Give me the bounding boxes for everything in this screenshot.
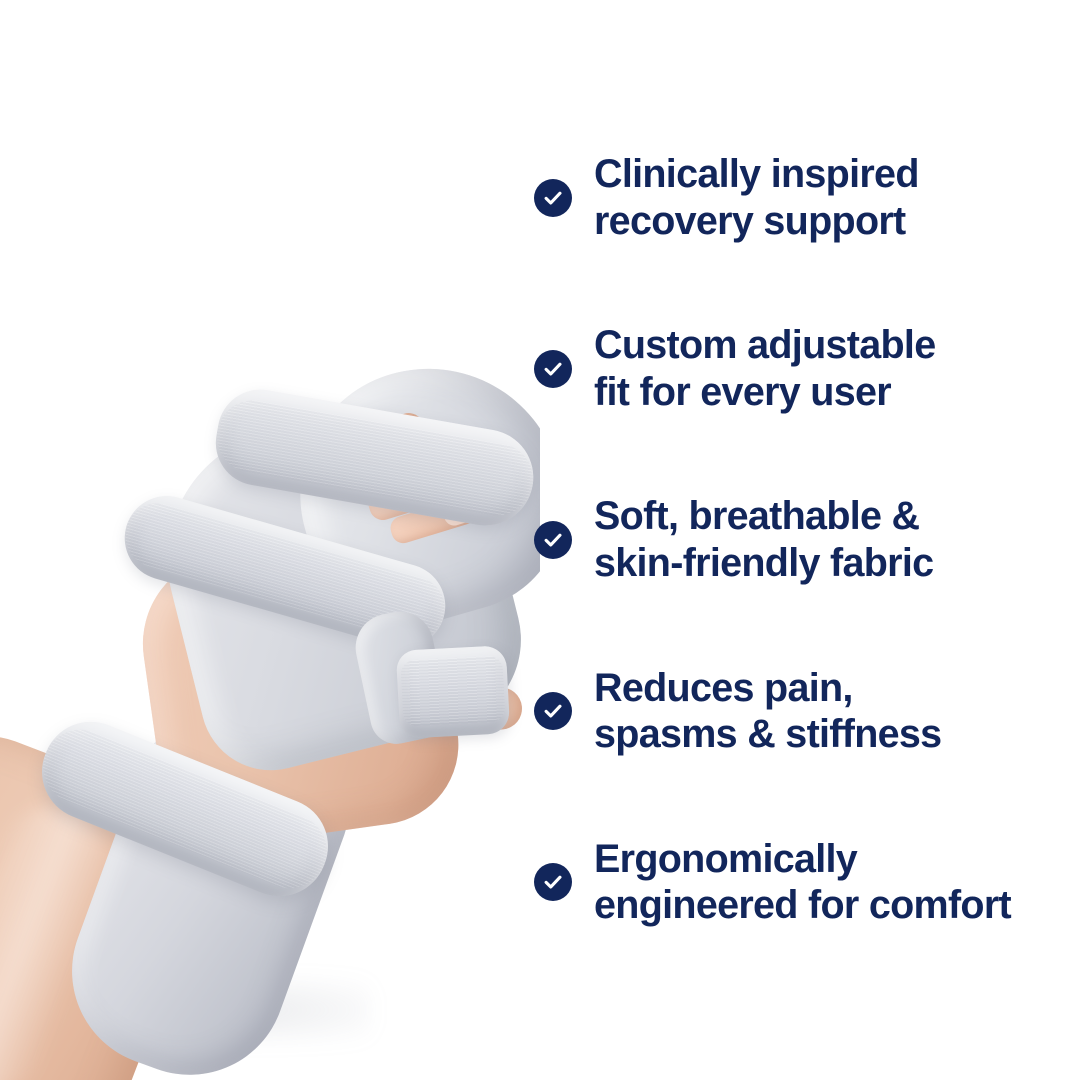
feature-label: Ergonomically engineered for comfort — [594, 836, 1011, 929]
feature-label: Custom adjustable fit for every user — [594, 322, 935, 415]
check-circle-icon — [534, 179, 572, 217]
feature-label: Soft, breathable & skin-friendly fabric — [594, 493, 933, 586]
check-circle-icon — [534, 863, 572, 901]
feature-item-custom-adjustable: Custom adjustable fit for every user — [534, 322, 1080, 415]
thumb-strap — [396, 645, 510, 739]
feature-item-reduces-pain: Reduces pain, spasms & stiffness — [534, 665, 1080, 758]
product-image — [0, 0, 540, 1080]
check-circle-icon — [534, 692, 572, 730]
check-circle-icon — [534, 521, 572, 559]
check-circle-icon — [534, 350, 572, 388]
feature-item-soft-breathable: Soft, breathable & skin-friendly fabric — [534, 493, 1080, 586]
feature-label: Clinically inspired recovery support — [594, 151, 919, 244]
infographic-page: Clinically inspired recovery support Cus… — [0, 0, 1080, 1080]
feature-item-ergonomic-comfort: Ergonomically engineered for comfort — [534, 836, 1080, 929]
feature-list: Clinically inspired recovery support Cus… — [534, 0, 1080, 1080]
feature-label: Reduces pain, spasms & stiffness — [594, 665, 941, 758]
feature-item-clinically-inspired: Clinically inspired recovery support — [534, 151, 1080, 244]
